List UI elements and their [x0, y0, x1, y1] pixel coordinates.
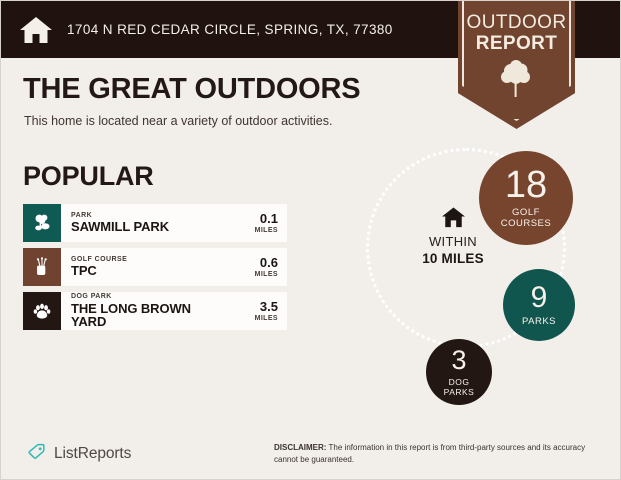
- golf-label-line-1: GOLF: [512, 207, 540, 218]
- golf-label-line-2: COURSES: [501, 218, 551, 229]
- parks-label: PARKS: [522, 317, 556, 328]
- popular-list: PARK SAWMILL PARK 0.1 MILES: [23, 204, 287, 336]
- badge-line-2: REPORT: [458, 34, 575, 55]
- stat-bubble-dog-parks: 3 DOG PARKS: [426, 339, 492, 405]
- outdoor-report-page: 1704 N RED CEDAR CIRCLE, SPRING, TX, 773…: [0, 0, 621, 480]
- list-item-category: GOLF COURSE: [71, 256, 127, 263]
- list-item[interactable]: GOLF COURSE TPC 0.6 MILES: [23, 248, 287, 286]
- list-item-body: GOLF COURSE TPC: [61, 248, 218, 286]
- distance-value: 0.1: [218, 212, 278, 225]
- home-icon: [19, 15, 53, 45]
- popular-heading: POPULAR: [23, 161, 154, 192]
- listreports-logo-icon: [26, 443, 47, 464]
- list-item-distance: 3.5 MILES: [218, 292, 287, 330]
- golf-courses-count: 18: [505, 166, 547, 204]
- home-icon: [441, 206, 466, 229]
- stat-bubble-parks: 9 PARKS: [503, 269, 575, 341]
- distance-unit: MILES: [218, 227, 278, 234]
- list-item-body: PARK SAWMILL PARK: [61, 204, 218, 242]
- center-line-1: WITHIN: [393, 234, 513, 249]
- disclaimer-label: DISCLAIMER:: [274, 443, 326, 452]
- dog-parks-label: DOG PARKS: [444, 378, 475, 397]
- outdoor-counts-diagram: WITHIN 10 MILES 18 GOLF COURSES 9 PARKS …: [341, 131, 621, 421]
- park-tree-icon: [31, 212, 53, 234]
- golf-courses-label: GOLF COURSES: [501, 208, 551, 229]
- badge-line-1: OUTDOOR: [458, 13, 575, 34]
- list-item-distance: 0.6 MILES: [218, 248, 287, 286]
- distance-unit: MILES: [218, 271, 278, 278]
- list-item-body: DOG PARK THE LONG BROWN YARD: [61, 292, 218, 330]
- list-item[interactable]: PARK SAWMILL PARK 0.1 MILES: [23, 204, 287, 242]
- list-item-name: TPC: [71, 264, 127, 278]
- list-item-icon-box: [23, 248, 61, 286]
- golf-bag-icon: [31, 256, 53, 278]
- dog-label-line-2: PARKS: [444, 387, 475, 397]
- listreports-logo[interactable]: ListReports: [26, 443, 131, 464]
- stat-bubble-golf-courses: 18 GOLF COURSES: [479, 151, 573, 245]
- list-item-name: SAWMILL PARK: [71, 220, 169, 234]
- property-address: 1704 N RED CEDAR CIRCLE, SPRING, TX, 773…: [67, 22, 393, 37]
- badge-label: OUTDOOR REPORT: [458, 13, 575, 54]
- disclaimer: DISCLAIMER: The information in this repo…: [274, 442, 604, 465]
- distance-value: 3.5: [218, 300, 278, 313]
- distance-unit: MILES: [218, 315, 278, 322]
- list-item-icon-box: [23, 292, 61, 330]
- list-item[interactable]: DOG PARK THE LONG BROWN YARD 3.5 MILES: [23, 292, 287, 330]
- paw-print-icon: [31, 300, 53, 322]
- page-title: THE GREAT OUTDOORS: [23, 73, 360, 106]
- list-item-category: PARK: [71, 212, 169, 219]
- list-item-icon-box: [23, 204, 61, 242]
- list-item-name: THE LONG BROWN YARD: [71, 302, 218, 329]
- dog-label-line-1: DOG: [449, 377, 470, 387]
- listreports-logo-text: ListReports: [54, 445, 131, 463]
- tree-icon: [499, 59, 533, 99]
- page-subtitle: This home is located near a variety of o…: [24, 114, 332, 128]
- distance-value: 0.6: [218, 256, 278, 269]
- dog-parks-count: 3: [451, 347, 466, 374]
- parks-count: 9: [531, 283, 548, 313]
- list-item-distance: 0.1 MILES: [218, 204, 287, 242]
- center-line-2: 10 MILES: [393, 251, 513, 266]
- list-item-category: DOG PARK: [71, 293, 218, 300]
